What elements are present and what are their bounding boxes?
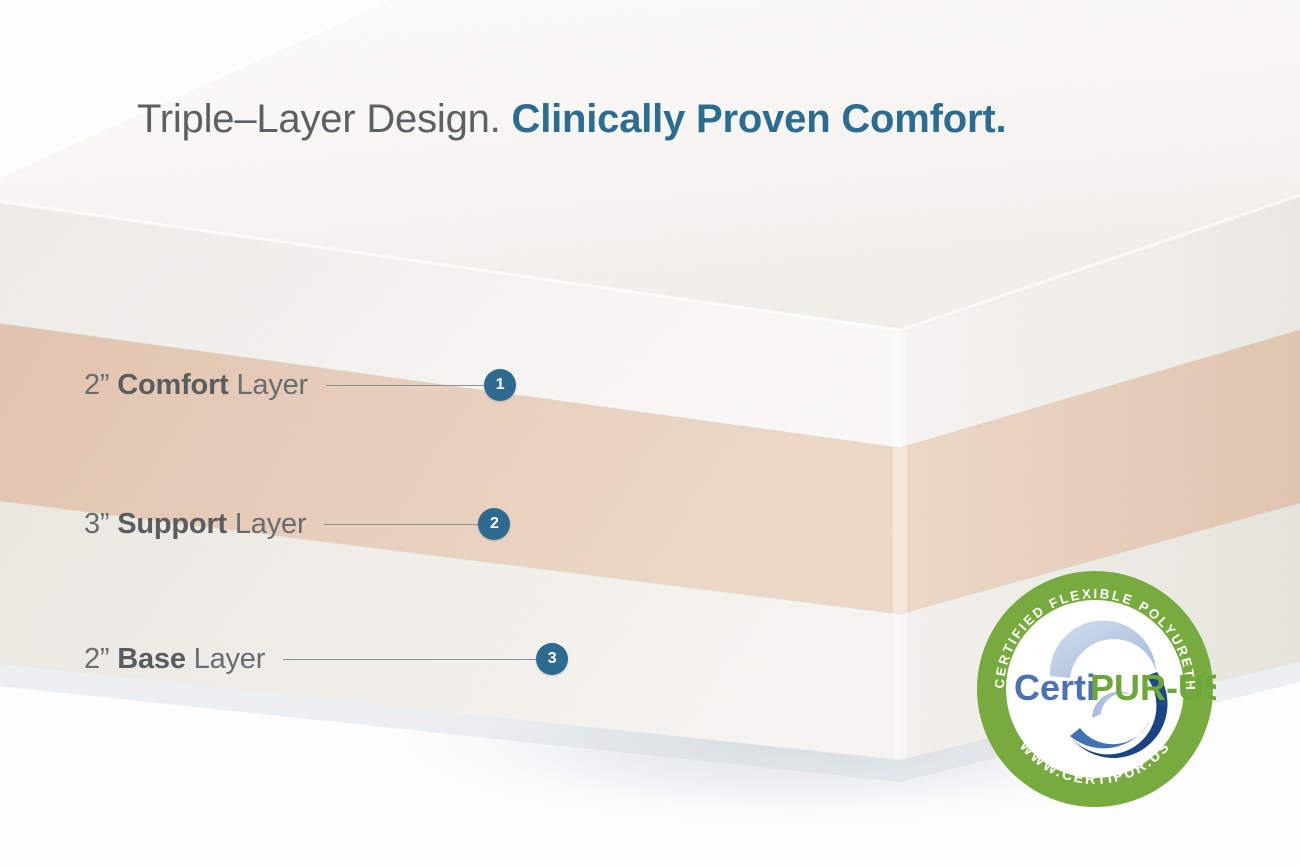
leader-line-2 xyxy=(324,524,479,525)
badge-registered-mark: ® xyxy=(1183,673,1191,685)
badge-wordmark-green: PUR-US xyxy=(1090,667,1216,708)
badge-wordmark: Certi PUR-US ® xyxy=(1014,667,1216,708)
callout-3-label: 2” Base Layer xyxy=(84,643,265,676)
leader-line-1 xyxy=(326,385,485,386)
callout-2-label: 3” Support Layer xyxy=(84,508,306,541)
infographic-canvas: Triple–Layer Design. Clinically Proven C… xyxy=(0,0,1300,866)
callout-comfort-layer[interactable]: 2” Comfort Layer 1 xyxy=(84,363,516,407)
certipur-us-badge[interactable]: CONTAINS CERTIFIED FLEXIBLE POLYURETHANE… xyxy=(974,568,1216,810)
callout-base-layer[interactable]: 2” Base Layer 3 xyxy=(84,637,568,681)
badge-wordmark-blue: Certi xyxy=(1014,667,1096,708)
callout-support-layer[interactable]: 3” Support Layer 2 xyxy=(84,502,510,546)
headline-part-a: Triple–Layer Design. xyxy=(137,97,501,141)
corner-highlight xyxy=(893,332,907,758)
headline-part-b: Clinically Proven Comfort. xyxy=(512,97,1007,141)
leader-line-3 xyxy=(283,659,537,660)
callout-number-badge-2[interactable]: 2 xyxy=(478,508,510,540)
callout-1-label: 2” Comfort Layer xyxy=(84,369,308,402)
callout-number-badge-1[interactable]: 1 xyxy=(484,369,516,401)
callout-number-badge-3[interactable]: 3 xyxy=(536,643,568,675)
page-headline: Triple–Layer Design. Clinically Proven C… xyxy=(137,96,1006,143)
